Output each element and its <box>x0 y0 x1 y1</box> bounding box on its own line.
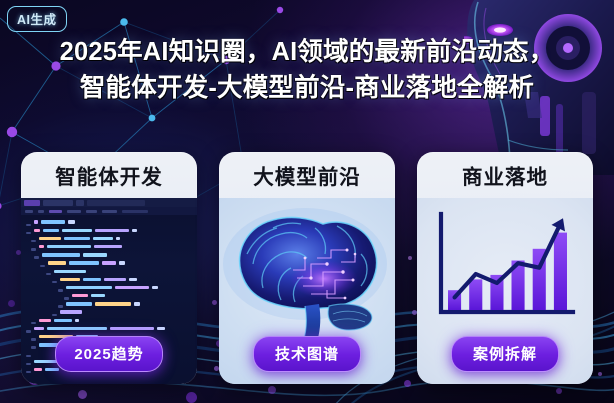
code-editor-menubar <box>21 207 197 215</box>
card-pill-2025-trend[interactable]: 2025趋势 <box>55 336 163 372</box>
card-agent-development[interactable]: 智能体开发 <box>21 152 197 384</box>
card-title-business-landing: 商业落地 <box>417 152 593 198</box>
card-media-growth-chart: 案例拆解 <box>417 198 593 384</box>
card-business-landing[interactable]: 商业落地 <box>417 152 593 384</box>
chart-bar <box>554 233 567 310</box>
code-editor-tabbar <box>21 198 197 207</box>
headline-line-2: 智能体开发-大模型前沿-商业落地全解析 <box>14 70 600 106</box>
page-title: 2025年AI知识圈，AI领域的最新前沿动态， 智能体开发-大模型前沿-商业落地… <box>0 34 614 106</box>
poster-canvas: AI生成 2025年AI知识圈，AI领域的最新前沿动态， 智能体开发-大模型前沿… <box>0 0 614 403</box>
card-title-agent-development: 智能体开发 <box>21 152 197 198</box>
card-media-code-editor: 2025趋势 <box>21 198 197 384</box>
headline-line-1: 2025年AI知识圈，AI领域的最新前沿动态， <box>14 34 600 70</box>
chart-bar <box>469 279 482 310</box>
card-large-model-frontier[interactable]: 大模型前沿 <box>219 152 395 384</box>
card-title-large-model-frontier: 大模型前沿 <box>219 152 395 198</box>
card-pill-tech-map[interactable]: 技术图谱 <box>253 336 361 372</box>
card-pill-case-study[interactable]: 案例拆解 <box>451 336 559 372</box>
feature-cards-row: 智能体开发 <box>0 152 614 384</box>
ai-generated-badge: AI生成 <box>7 6 67 32</box>
card-media-brain: 技术图谱 <box>219 198 395 384</box>
